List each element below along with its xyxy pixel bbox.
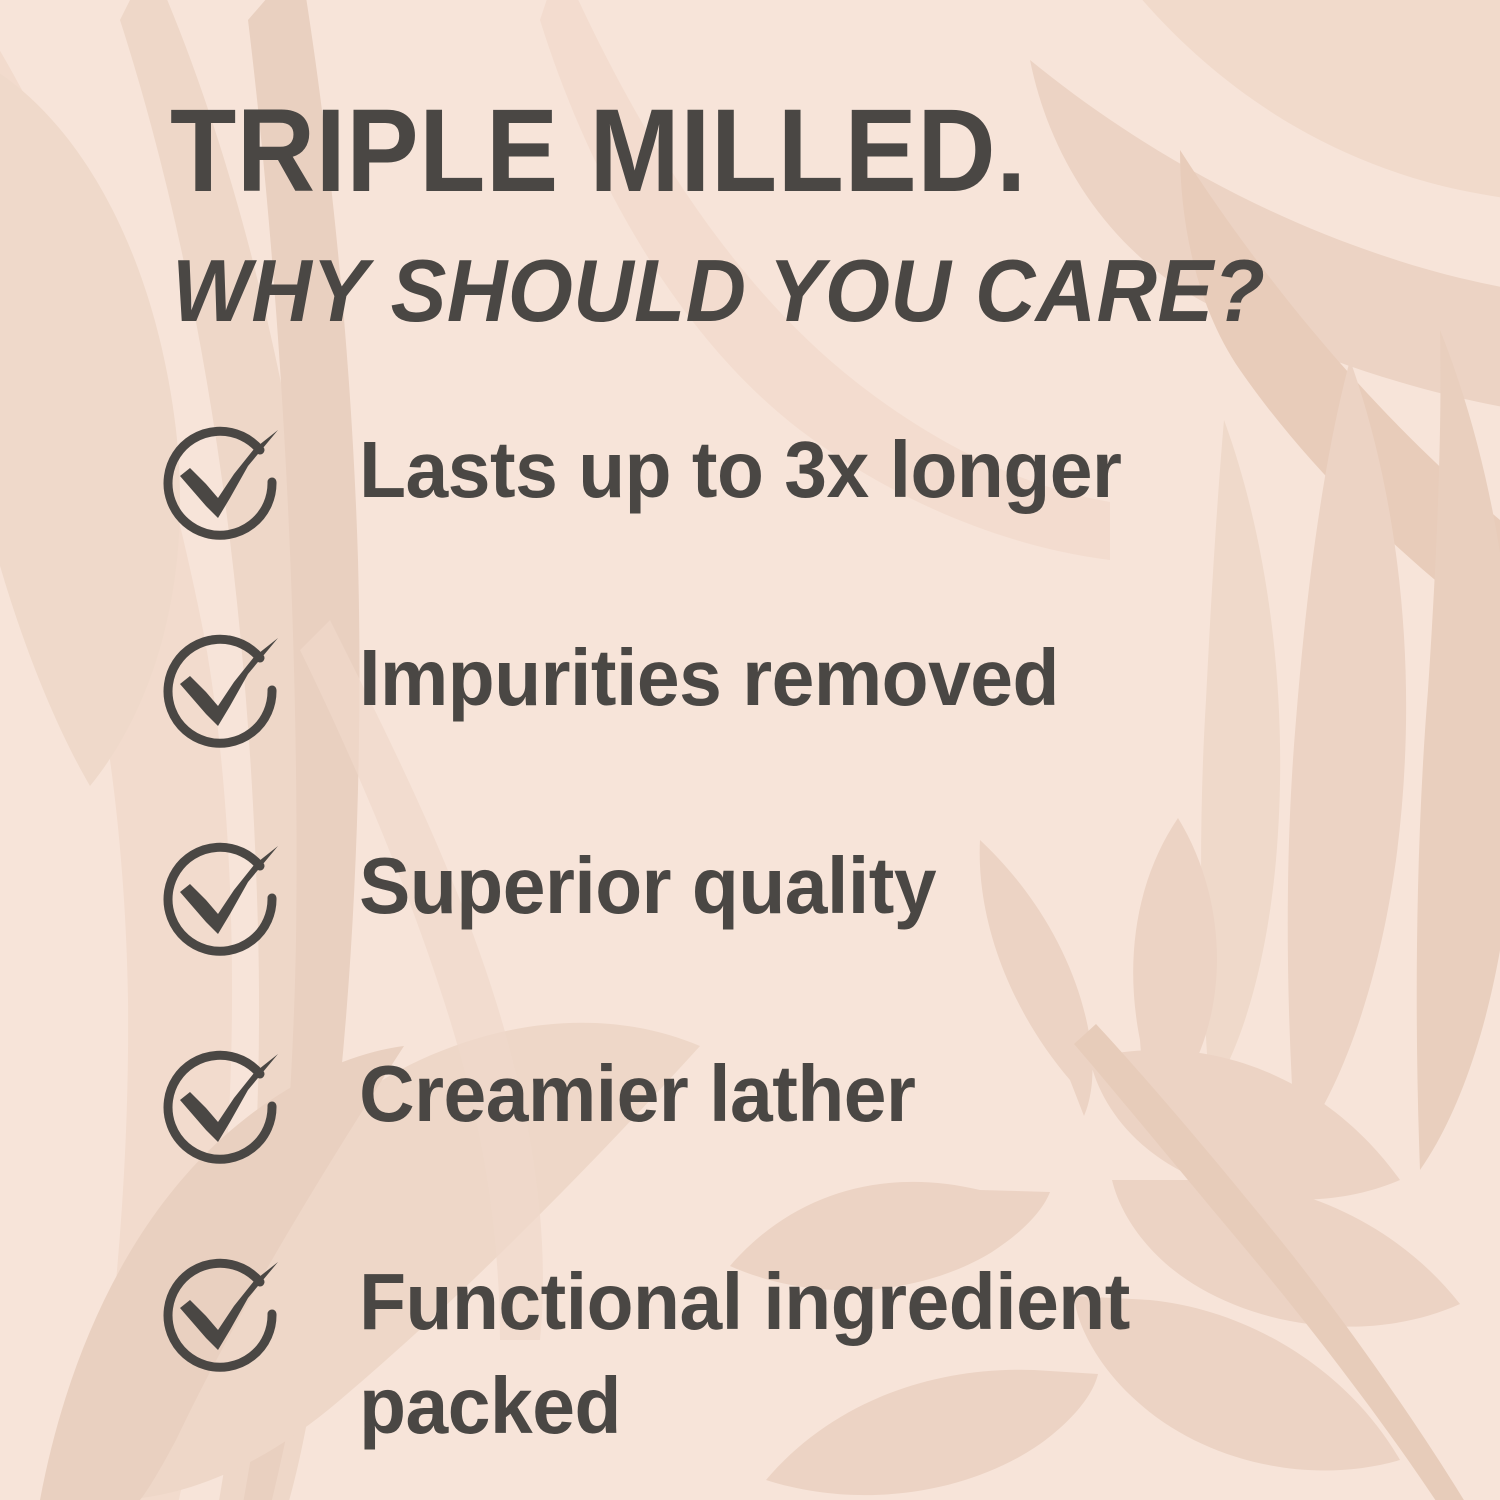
list-item-label: Lasts up to 3x longer bbox=[290, 418, 1356, 522]
list-item: Lasts up to 3x longer bbox=[160, 418, 1400, 548]
list-item-label: Impurities removed bbox=[290, 626, 1356, 730]
page-title: TRIPLE MILLED. bbox=[170, 96, 1027, 206]
list-item-label: Creamier lather bbox=[290, 1042, 1356, 1146]
benefit-list: Lasts up to 3x longer Impurities removed bbox=[160, 418, 1400, 1458]
circled-checkmark-icon bbox=[160, 1258, 290, 1380]
list-item: Impurities removed bbox=[160, 626, 1400, 756]
list-item: Creamier lather bbox=[160, 1042, 1400, 1172]
circled-checkmark-icon bbox=[160, 426, 290, 548]
content-layer: TRIPLE MILLED. WHY SHOULD YOU CARE? Last… bbox=[0, 0, 1500, 1500]
circled-checkmark-icon bbox=[160, 842, 290, 964]
list-item: Superior quality bbox=[160, 834, 1400, 964]
circled-checkmark-icon bbox=[160, 1050, 290, 1172]
circled-checkmark-icon bbox=[160, 634, 290, 756]
infographic-canvas: TRIPLE MILLED. WHY SHOULD YOU CARE? Last… bbox=[0, 0, 1500, 1500]
list-item-label: Functional ingredient packed bbox=[290, 1250, 1356, 1458]
page-subtitle: WHY SHOULD YOU CARE? bbox=[172, 247, 1265, 335]
list-item: Functional ingredient packed bbox=[160, 1250, 1400, 1458]
list-item-label: Superior quality bbox=[290, 834, 1356, 938]
